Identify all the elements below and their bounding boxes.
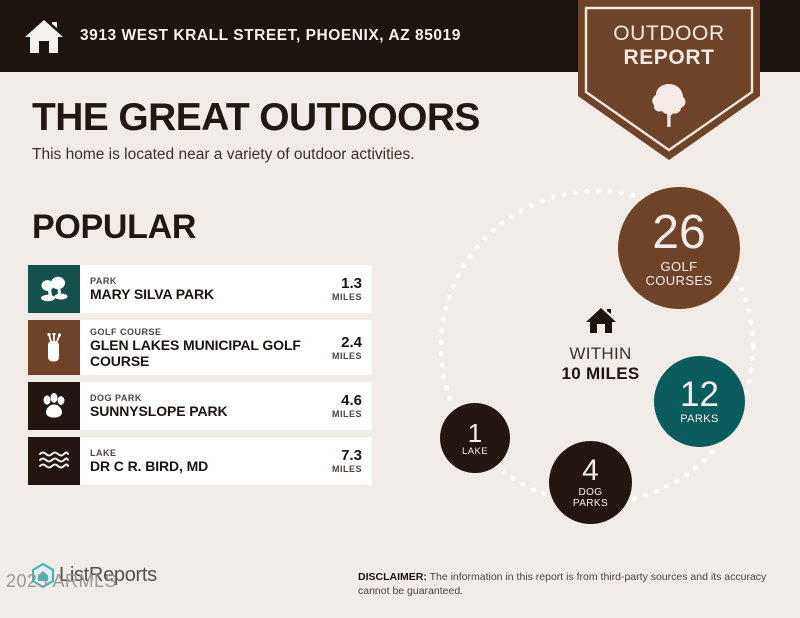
place-distance-unit: MILES	[332, 351, 362, 361]
stat-label-line-1: DOG	[579, 488, 603, 499]
stat-value: 4	[582, 456, 599, 486]
stat-label-line-1: PARKS	[680, 414, 718, 426]
place-distance: 1.3 MILES	[314, 265, 372, 313]
paw-print-icon	[40, 393, 68, 419]
diagram-center-group: WITHIN 10 MILES	[528, 305, 673, 384]
place-info: GOLF COURSE GLEN LAKES MUNICIPAL GOLF CO…	[80, 320, 314, 375]
stat-label-line-1: LAKE	[462, 447, 488, 457]
list-item[interactable]: LAKE DR C R. BIRD, MD 7.3 MILES	[28, 437, 372, 485]
disclaimer-label: DISCLAIMER:	[358, 571, 427, 583]
page-subtitle: This home is located near a variety of o…	[32, 146, 415, 164]
tree-icon	[649, 82, 689, 128]
place-icon-tile	[28, 382, 80, 430]
badge-line-1: OUTDOOR	[578, 22, 760, 46]
place-icon-tile	[28, 265, 80, 313]
place-icon-tile	[28, 320, 80, 375]
page-title: THE GREAT OUTDOORS	[32, 96, 480, 140]
popular-heading: POPULAR	[32, 208, 196, 247]
stat-circle-dog-parks[interactable]: 4 DOG PARKS	[549, 441, 632, 524]
list-item[interactable]: PARK MARY SILVA PARK 1.3 MILES	[28, 265, 372, 313]
disclaimer: DISCLAIMER: The information in this repo…	[358, 570, 778, 598]
water-waves-icon	[38, 449, 70, 473]
home-icon	[585, 305, 617, 335]
stat-label-line-2: COURSES	[645, 274, 712, 288]
stat-circle-lake[interactable]: 1 LAKE	[440, 403, 510, 473]
stat-circle-golf-courses[interactable]: 26 GOLF COURSES	[618, 187, 740, 309]
popular-places-list: PARK MARY SILVA PARK 1.3 MILES GOLF COUR…	[28, 265, 372, 492]
place-distance: 7.3 MILES	[314, 437, 372, 485]
stat-label-line-2: PARKS	[573, 499, 608, 510]
place-distance-value: 4.6	[341, 393, 362, 409]
golf-bag-icon	[41, 333, 67, 363]
list-item[interactable]: DOG PARK SUNNYSLOPE PARK 4.6 MILES	[28, 382, 372, 430]
place-distance-value: 2.4	[341, 335, 362, 351]
stat-value: 26	[652, 209, 705, 257]
stat-label-line-1: GOLF	[661, 260, 698, 274]
outdoor-report-badge: OUTDOOR REPORT	[578, 0, 760, 160]
place-name: DR C R. BIRD, MD	[90, 459, 310, 475]
stat-value: 12	[680, 377, 719, 412]
place-distance-value: 7.3	[341, 448, 362, 464]
place-distance: 2.4 MILES	[314, 320, 372, 375]
place-info: LAKE DR C R. BIRD, MD	[80, 437, 314, 485]
center-line-1: WITHIN	[569, 344, 631, 364]
within-10-miles-diagram: 26 GOLF COURSES 12 PARKS 4 DOG PARKS 1 L…	[415, 175, 795, 540]
place-distance-value: 1.3	[341, 276, 362, 292]
mls-watermark: 2025 ARMLS	[6, 571, 117, 592]
property-address: 3913 WEST KRALL STREET, PHOENIX, AZ 8501…	[80, 27, 461, 45]
home-icon	[22, 14, 66, 58]
place-distance-unit: MILES	[332, 292, 362, 302]
place-info: DOG PARK SUNNYSLOPE PARK	[80, 382, 314, 430]
place-icon-tile	[28, 437, 80, 485]
place-name: GLEN LAKES MUNICIPAL GOLF COURSE	[90, 338, 310, 369]
place-name: SUNNYSLOPE PARK	[90, 404, 310, 420]
center-line-2: 10 MILES	[562, 364, 640, 384]
place-distance: 4.6 MILES	[314, 382, 372, 430]
place-name: MARY SILVA PARK	[90, 287, 310, 303]
badge-line-2: REPORT	[578, 46, 760, 70]
place-distance-unit: MILES	[332, 409, 362, 419]
stat-value: 1	[468, 420, 482, 446]
list-item[interactable]: GOLF COURSE GLEN LAKES MUNICIPAL GOLF CO…	[28, 320, 372, 375]
park-trees-icon	[39, 276, 69, 302]
place-info: PARK MARY SILVA PARK	[80, 265, 314, 313]
place-distance-unit: MILES	[332, 464, 362, 474]
